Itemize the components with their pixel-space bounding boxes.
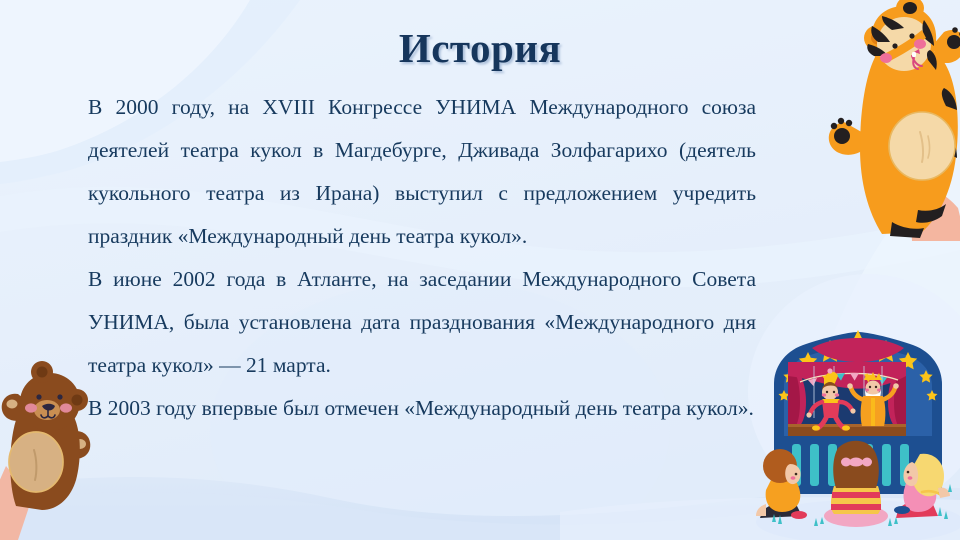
paragraph-1: В 2000 году, на XVIII Конгрессе УНИМА Ме… bbox=[88, 86, 756, 258]
body-text-block: В 2000 году, на XVIII Конгрессе УНИМА Ме… bbox=[88, 86, 756, 430]
paragraph-2: В июне 2002 года в Атланте, на заседании… bbox=[88, 258, 756, 387]
paragraph-3: В 2003 году впервые был отмечен «Междуна… bbox=[88, 387, 756, 430]
bear-puppet-illustration bbox=[0, 358, 94, 540]
page-title: История bbox=[0, 24, 960, 72]
slide-canvas: История В 2000 году, на XVIII Конгрессе … bbox=[0, 0, 960, 540]
puppet-theater-illustration bbox=[752, 326, 960, 540]
